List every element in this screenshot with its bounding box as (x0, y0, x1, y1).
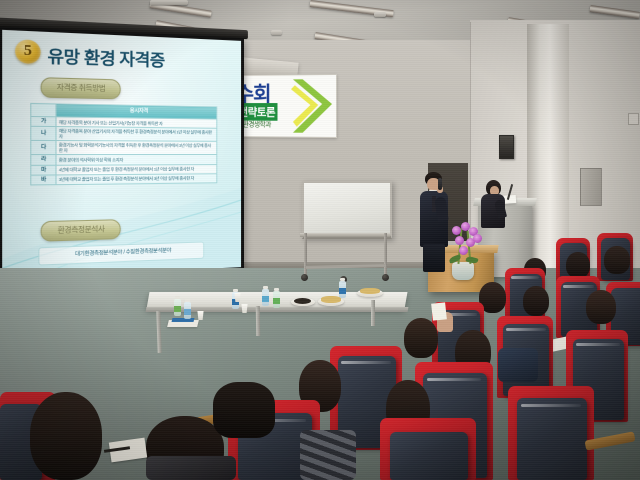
audience-head (30, 392, 102, 480)
audience-head (604, 246, 630, 274)
table-blue-folder (172, 318, 195, 322)
ceiling-vent (374, 12, 386, 17)
row-key: 라 (31, 155, 56, 165)
snack-pastry (360, 288, 380, 294)
table-row: 바 3년제 대학교 졸업자 또는 졸업 후 환경 측정분석 분야에서 3년 이상… (31, 173, 217, 185)
seat-highlight (506, 328, 546, 331)
wall-access-panel (580, 168, 602, 206)
whiteboard (302, 181, 392, 239)
row-key: 마 (31, 165, 56, 175)
seat-highlight (427, 378, 481, 381)
orchid-bloom (459, 246, 468, 255)
audience-head (566, 252, 590, 278)
seat-highlight (521, 404, 581, 407)
seat-highlight (341, 361, 391, 364)
bottle-label (174, 306, 181, 312)
whiteboard-wheel (382, 274, 389, 281)
wall-speaker-box (499, 135, 514, 159)
row-key: 다 (31, 141, 56, 155)
audience-striped-top (300, 430, 356, 480)
whiteboard-wheel (301, 274, 308, 281)
bottle-label (262, 296, 269, 302)
snack-pastry (321, 296, 341, 303)
row-text: 해당 자격종목 분야 산업기사의 자격을 취득한 후 환경측정분석 분야에서 1… (56, 127, 217, 142)
screen-frame: 5 유망 환경 자격증 자격증 취득방법 응시자격 가 해당 자격종목 분야 기… (0, 26, 244, 281)
audience-held-paper (431, 302, 447, 320)
table-leg (256, 306, 261, 336)
seat-highlight (563, 285, 594, 288)
slide-pill-top: 자격증 취득방법 (41, 77, 121, 99)
orchid-bloom (452, 226, 461, 235)
audience-torso (498, 348, 538, 382)
seat-highlight (511, 276, 539, 279)
table-body: 가 해당 자격종목 분야 기사 또는 산업기사(기능장 자격을 취득한 자 나 … (31, 116, 217, 184)
snack-dark-items (294, 298, 311, 304)
audience-head (586, 290, 616, 324)
table-row: 나 해당 자격종목 분야 산업기사의 자격을 취득한 후 환경측정분석 분야에서… (31, 127, 217, 142)
presentation-slide: 5 유망 환경 자격증 자격증 취득방법 응시자격 가 해당 자격종목 분야 기… (2, 30, 241, 278)
bottle-label (273, 298, 280, 304)
seat-back-panel (390, 432, 468, 480)
orchid-bloom (473, 234, 482, 243)
row-key: 바 (31, 175, 56, 185)
bottle-label (184, 309, 191, 315)
ceiling-vent (150, 0, 188, 5)
microphone-icon (438, 178, 442, 190)
lecture-hall-photo: 09 업시 009. 11. 수회 전략토론 기 환경생학과 (0, 0, 640, 480)
row-text: 3년제 대학교 졸업자 또는 졸업 후 환경 측정분석 분야에서 3년 이상 실… (56, 173, 217, 184)
table-row: 다 환경기능사 및 화학분석기능사의 자격을 취득한 후 환경측정분석 분야에서… (31, 141, 217, 155)
presenter-legs (423, 244, 445, 272)
orchid-vase (452, 262, 474, 280)
table-col-key (31, 103, 56, 116)
slide-requirements-table: 응시자격 가 해당 자격종목 분야 기사 또는 산업기사(기능장 자격을 취득한… (30, 103, 217, 186)
audience-head (404, 318, 438, 358)
orchid-bloom (455, 236, 464, 245)
whiteboard-tray (300, 233, 390, 237)
row-text: 환경기능사 및 화학분석기능사의 자격을 취득한 후 환경측정분석 분야에서 3… (56, 141, 217, 155)
projection-screen: 5 유망 환경 자격증 자격증 취득방법 응시자격 가 해당 자격종목 분야 기… (0, 26, 244, 281)
ceiling-vent (271, 30, 282, 35)
seat-highlight (576, 343, 620, 346)
row-key: 나 (31, 127, 56, 141)
slide-title: 유망 환경 자격증 (47, 42, 164, 72)
seat-back-panel (517, 398, 587, 480)
audience-torso (146, 456, 236, 480)
audience-head (213, 382, 275, 438)
row-key: 가 (31, 116, 56, 126)
audience-head (523, 286, 549, 316)
wall-sign (628, 113, 639, 125)
bottle-label (339, 288, 346, 294)
whiteboard-leg (384, 233, 387, 275)
table-leg (371, 300, 375, 326)
slide-number-badge: 5 (15, 39, 40, 64)
chevron-logo-icon (289, 77, 334, 135)
slide-pill-bottom: 환경측정분석사 (41, 219, 121, 242)
